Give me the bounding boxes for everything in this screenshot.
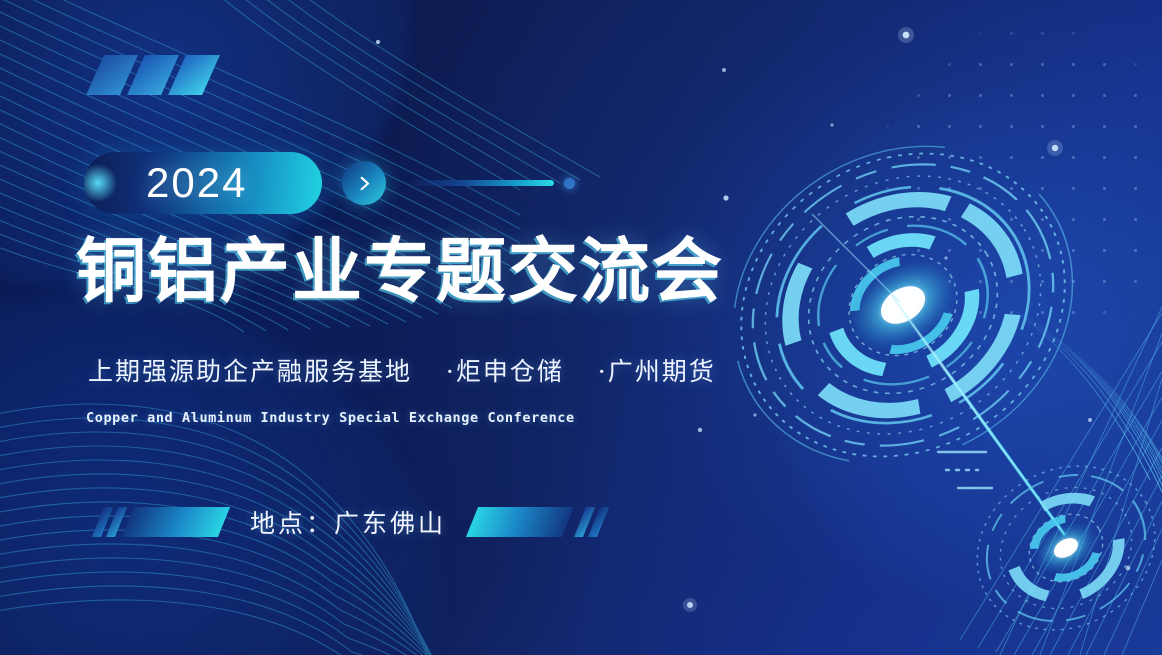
year-pill: 2024 bbox=[84, 152, 322, 214]
location-label: 地点：广东佛山 bbox=[250, 504, 446, 540]
poster-canvas: 2024 铜铝产业专题交流会 上期强源助企产融服务基地 ·炬申仓储 ·广州期货 … bbox=[0, 0, 1162, 655]
subtitle-part-2: ·炬申仓储 bbox=[446, 357, 564, 386]
corner-slash-marks bbox=[95, 55, 211, 95]
background-blob-bottom-left bbox=[0, 295, 440, 655]
location-bar-right bbox=[466, 507, 574, 537]
english-title: Copper and Aluminum Industry Special Exc… bbox=[86, 410, 575, 426]
subtitle-part-3: ·广州期货 bbox=[598, 357, 716, 386]
subtitle: 上期强源助企产融服务基地 ·炬申仓储 ·广州期货 bbox=[88, 352, 716, 388]
location-bar-left bbox=[122, 507, 230, 537]
chevron-right-glyph bbox=[356, 175, 373, 192]
accent-end-dot bbox=[564, 178, 575, 189]
chevron-right-icon[interactable] bbox=[342, 161, 386, 205]
accent-line bbox=[408, 180, 554, 186]
page-title: 铜铝产业专题交流会 bbox=[76, 215, 724, 316]
location-row: 地点：广东佛山 bbox=[98, 505, 603, 539]
year-row: 2024 bbox=[84, 150, 575, 216]
subtitle-part-1: 上期强源助企产融服务基地 bbox=[88, 357, 412, 386]
year-label: 2024 bbox=[84, 152, 322, 214]
